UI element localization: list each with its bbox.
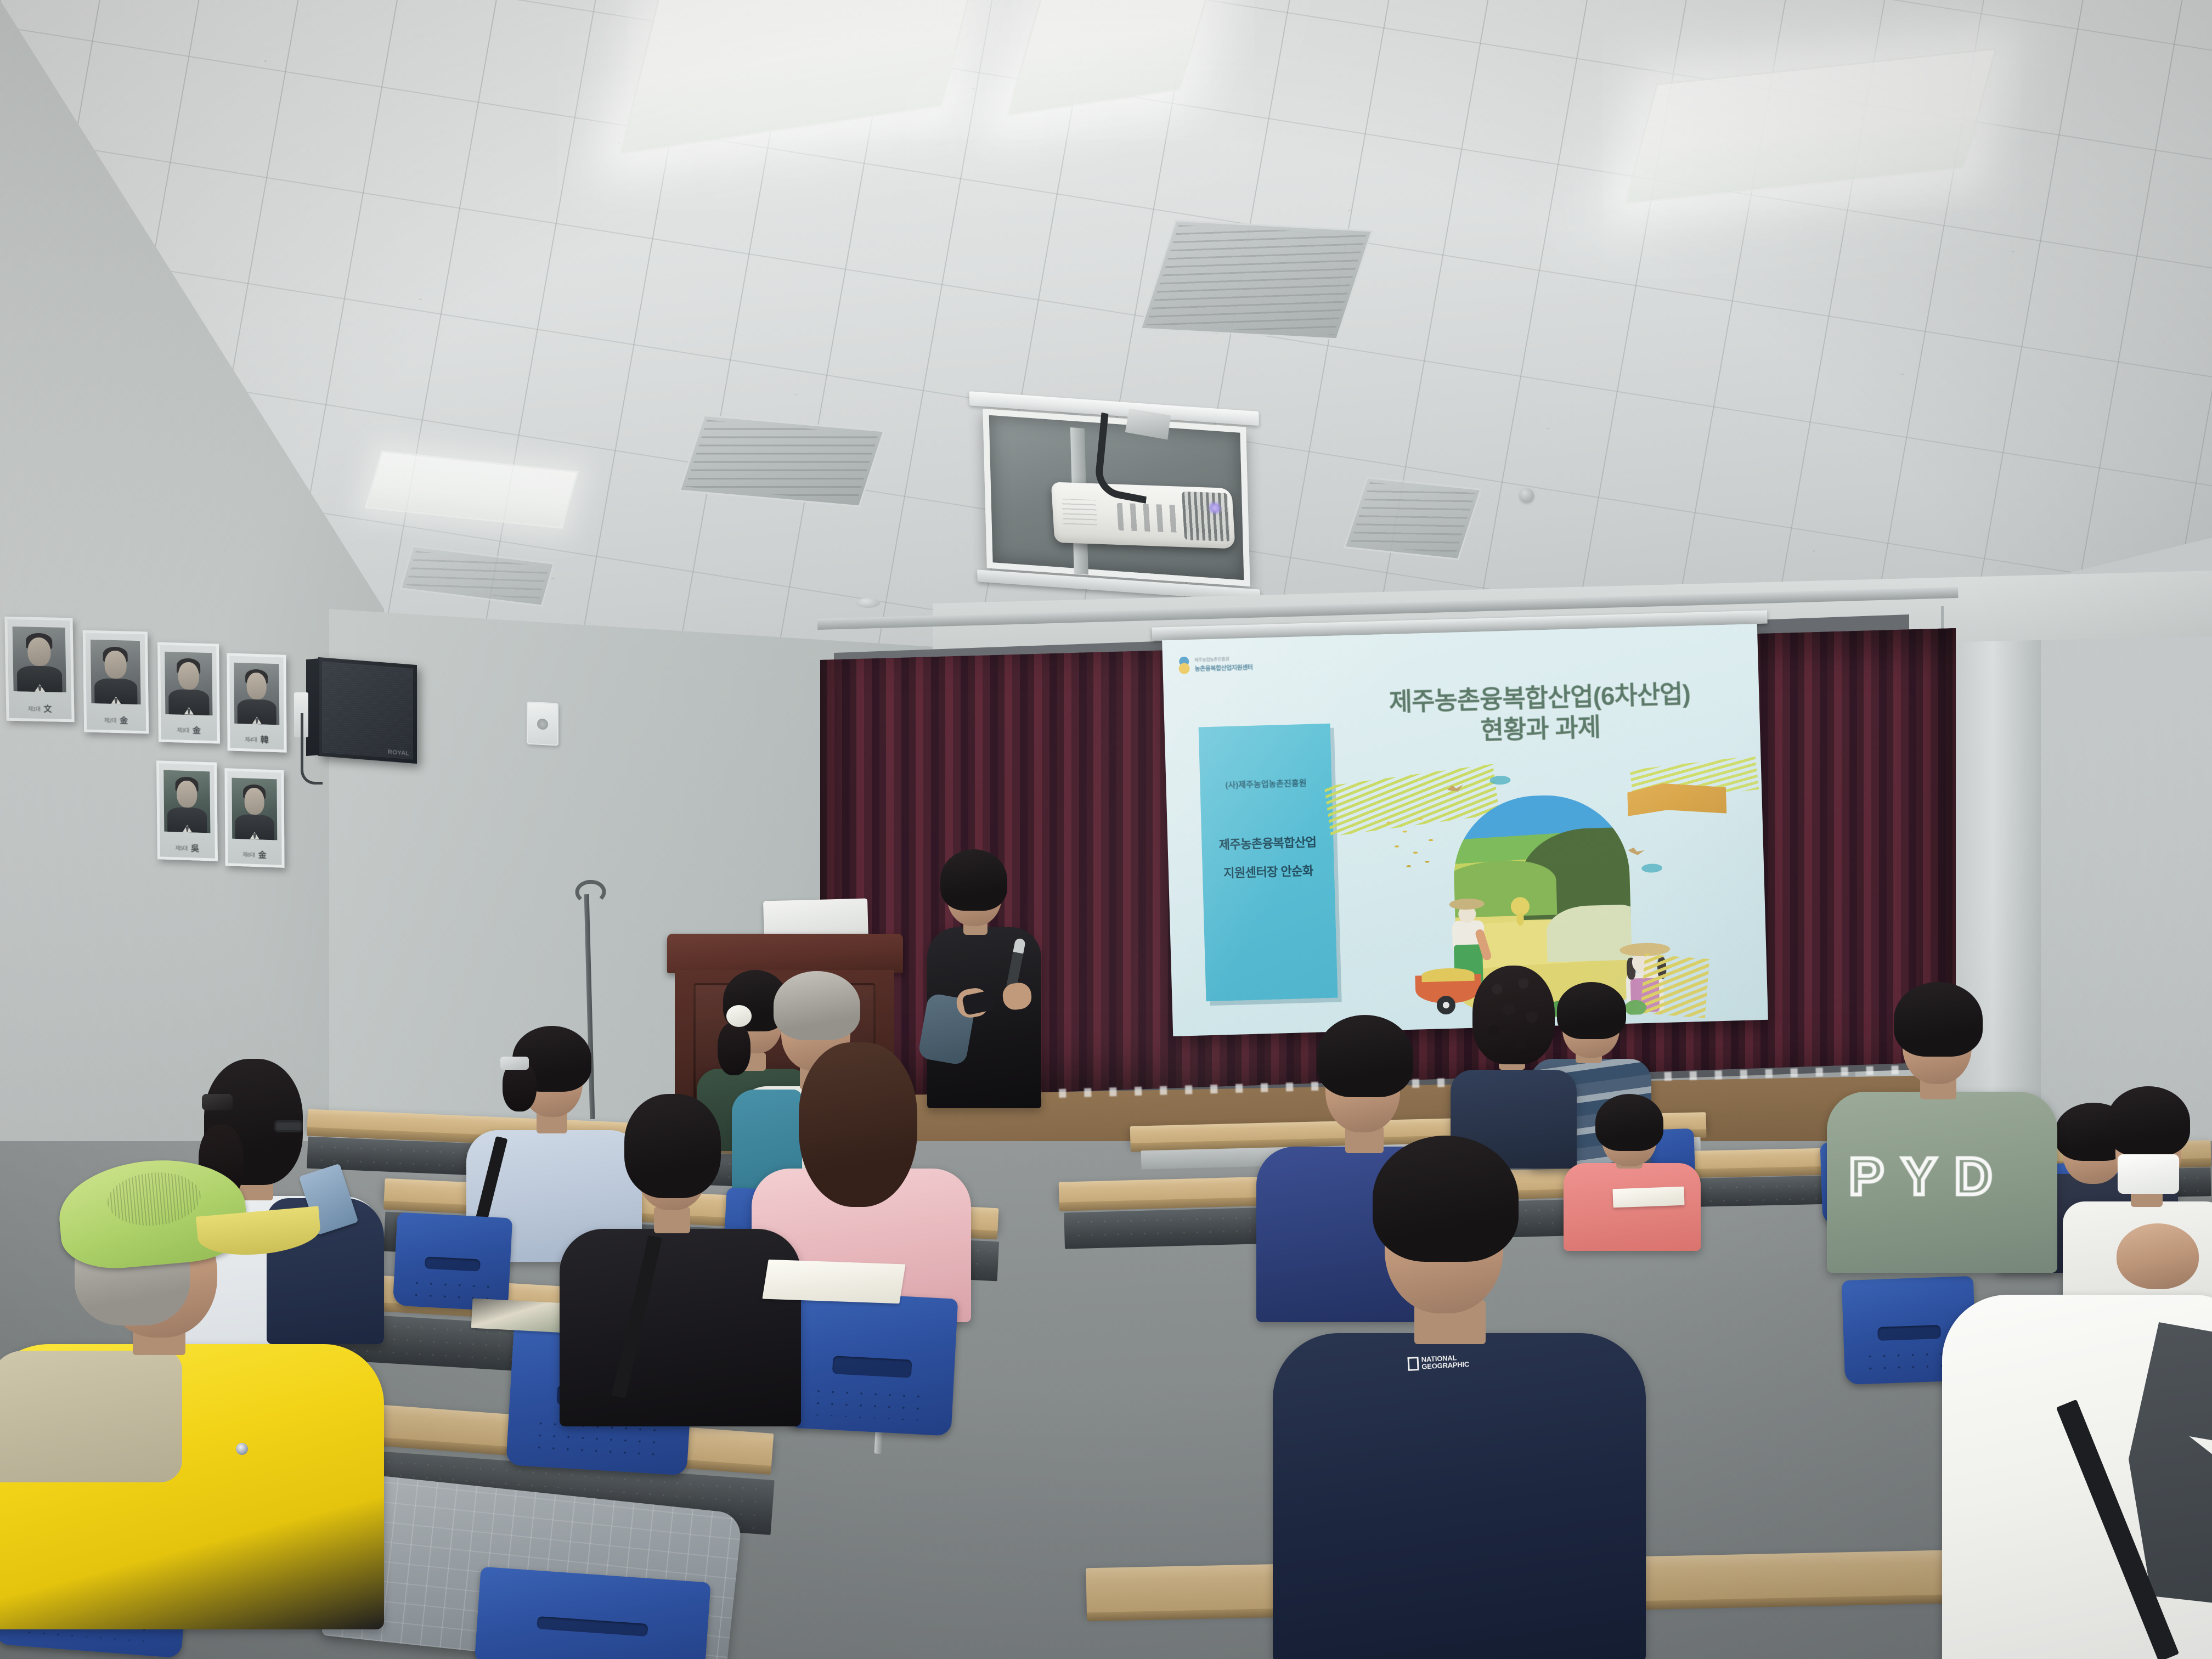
lecture-room-photo: 제1대文 제2대金 제3대金 제4대韓 제5대吳 제6대金 ROYAL — [0, 0, 2212, 1659]
wall-speaker: ROYAL — [318, 657, 417, 764]
tshirt-letter: D — [1954, 1147, 1995, 1207]
framed-portrait: 제3대金 — [157, 642, 220, 743]
portrait-name: 金 — [258, 849, 267, 861]
bird-icon — [1628, 847, 1645, 856]
slide-presenter-line2: 지원센터장 안순화 — [1203, 861, 1335, 882]
slide-logo: 제주농업농촌진흥원 농촌융복합산업지원센터 — [1177, 652, 1271, 676]
face-mask — [2118, 1154, 2179, 1194]
portrait-name: 金 — [120, 714, 128, 726]
slide-title: 제주농촌융복합산업(6차산업) 현황과 과제 — [1336, 677, 1744, 750]
audience-member: P Y D — [1827, 982, 2057, 1267]
baseball-cap — [55, 1153, 250, 1273]
audience-member — [560, 1086, 801, 1426]
ceiling-air-vent — [1344, 477, 1482, 560]
hair-scrunchie — [202, 1094, 233, 1110]
smoke-detector-icon — [856, 598, 880, 608]
ceiling-air-vent — [679, 415, 884, 507]
framed-portrait: 제1대文 — [4, 617, 74, 723]
jacket-hood — [0, 1351, 182, 1482]
portrait-rank: 제5대 — [175, 843, 188, 852]
portrait-rank: 제1대 — [28, 704, 41, 712]
natgeo-logo: NATIONAL GEOGRAPHIC — [1407, 1353, 1469, 1371]
portrait-rank: 제3대 — [177, 726, 189, 735]
framed-portrait: 제2대金 — [83, 630, 149, 734]
hair-clip — [500, 1057, 529, 1070]
illustration-grain — [1379, 810, 1452, 879]
speaker-wire — [301, 713, 323, 785]
jacket-logo — [236, 1443, 248, 1455]
tshirt-letter: P — [1849, 1147, 1887, 1207]
portrait-name: 金 — [193, 725, 201, 736]
ceiling-air-vent — [1140, 220, 1373, 340]
audience-member: NATIONAL GEOGRAPHIC — [1273, 1125, 1646, 1659]
audience-member — [1942, 1229, 2212, 1659]
slide-logo-mark-icon — [1177, 656, 1192, 674]
emergency-light — [527, 701, 558, 746]
slide-organization: (사)제주농업농촌진흥원 — [1200, 776, 1331, 792]
cloud-icon — [1641, 864, 1662, 873]
open-handout — [762, 1260, 905, 1304]
natgeo-box-icon — [1407, 1357, 1419, 1371]
jacket-logo-icon — [236, 1443, 248, 1455]
sprinkler-head-icon — [1520, 488, 1534, 503]
slide-logo-line2: 농촌융복합산업지원센터 — [1194, 662, 1252, 673]
framed-portrait: 제5대吳 — [156, 760, 218, 861]
framed-portrait: 제6대金 — [224, 768, 284, 868]
audience-member — [0, 1136, 395, 1629]
chair — [787, 1290, 958, 1436]
framed-portrait: 제4대韓 — [227, 653, 286, 752]
portrait-rank: 제2대 — [104, 715, 117, 724]
portrait-rank: 제4대 — [245, 735, 257, 743]
slide-side-panel: (사)제주농업농촌진흥원 제주농촌융복합산업 지원센터장 안순화 — [1199, 724, 1338, 1002]
ceiling-projector — [983, 409, 1250, 586]
cloud-icon — [1489, 776, 1510, 785]
eyeglasses — [274, 1120, 303, 1132]
chair — [474, 1567, 711, 1659]
portrait-rank: 제6대 — [242, 850, 255, 859]
slide-presenter-line1: 제주농촌융복합산업 — [1201, 832, 1334, 854]
slide-logo-line1: 제주농업농촌진흥원 — [1194, 655, 1252, 663]
tshirt-letter: Y — [1901, 1147, 1940, 1207]
portrait-name: 吳 — [191, 842, 200, 854]
portrait-name: 文 — [43, 703, 52, 714]
chair — [393, 1212, 513, 1312]
tshirt-graphic-text: P Y D — [1849, 1147, 1995, 1207]
portrait-name: 韓 — [261, 733, 269, 746]
